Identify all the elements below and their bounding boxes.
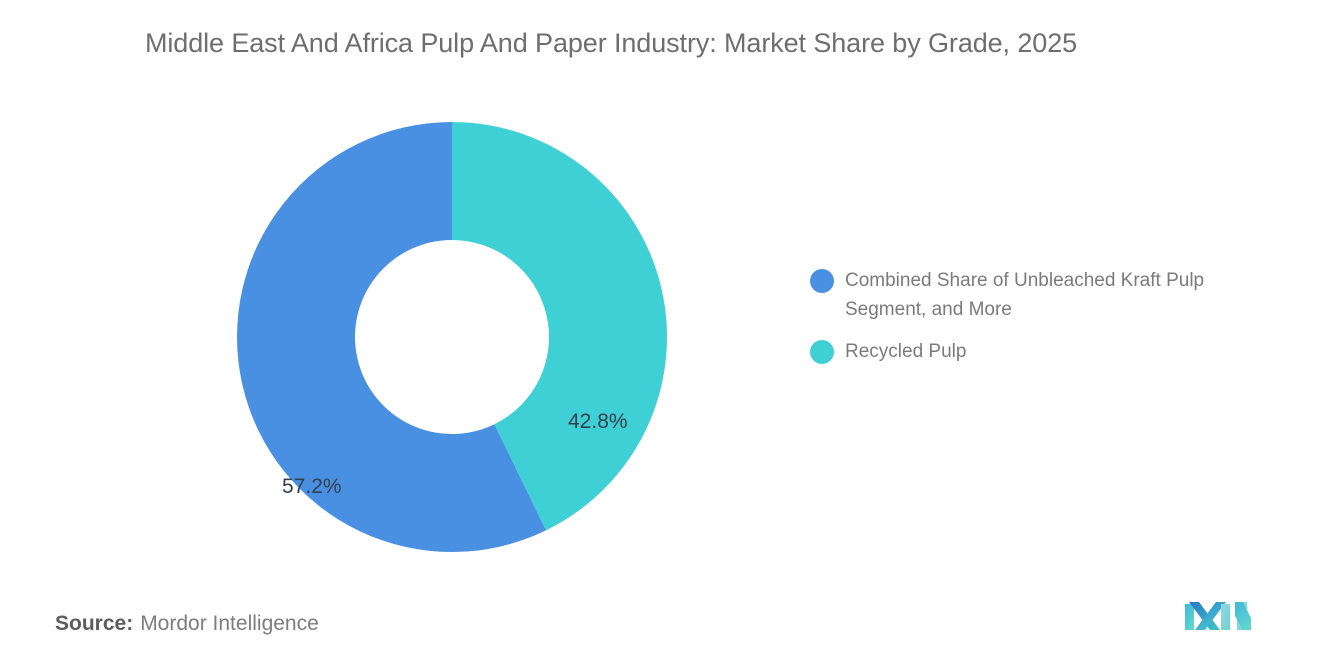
source-value: Mordor Intelligence <box>140 612 319 635</box>
legend-item-recycled-pulp[interactable]: Recycled Pulp <box>810 337 1280 366</box>
legend-label-unbleached-kraft: Combined Share of Unbleached Kraft Pulp … <box>845 266 1245 324</box>
legend-item-unbleached-kraft[interactable]: Combined Share of Unbleached Kraft Pulp … <box>810 266 1280 324</box>
chart-legend: Combined Share of Unbleached Kraft Pulp … <box>810 266 1280 379</box>
donut-chart: 42.8% 57.2% <box>237 122 667 552</box>
mordor-intelligence-logo-icon <box>1183 596 1253 636</box>
source-label: Source: <box>55 612 133 635</box>
slice-label-recycled-pulp: 42.8% <box>568 410 628 434</box>
legend-label-recycled-pulp: Recycled Pulp <box>845 337 966 366</box>
slice-label-unbleached-kraft: 57.2% <box>282 475 342 499</box>
chart-title: Middle East And Africa Pulp And Paper In… <box>145 28 1255 59</box>
source-line: Source:Mordor Intelligence <box>55 612 319 636</box>
legend-swatch-recycled-pulp <box>810 340 834 364</box>
legend-swatch-unbleached-kraft <box>810 269 834 293</box>
